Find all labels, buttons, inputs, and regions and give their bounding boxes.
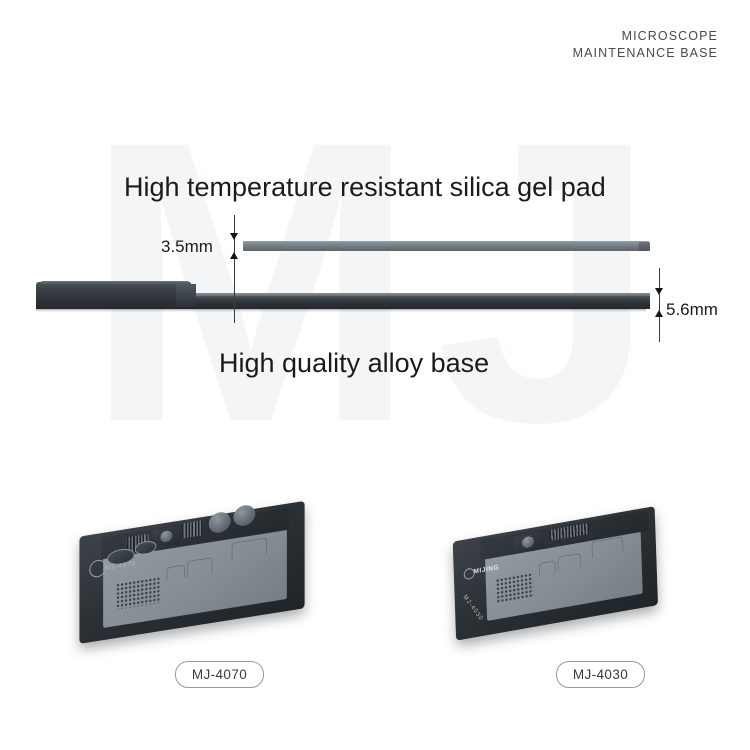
headline-alloy-base: High quality alloy base — [219, 348, 489, 379]
dimension-line-3-5mm — [234, 215, 235, 323]
alloy-base-shadow — [36, 308, 646, 312]
mj-watermark: MJ — [60, 92, 700, 472]
alloy-base-top-edge — [190, 293, 650, 298]
header-line-1: MICROSCOPE — [573, 28, 718, 45]
alloy-base-plate — [36, 296, 650, 309]
product-photo-mj-4030: MIJING MJ-4030 — [443, 508, 673, 648]
product-infographic-page: MJ MICROSCOPE MAINTENANCE BASE High temp… — [0, 0, 750, 750]
dimension-line-5-6mm — [659, 268, 660, 342]
mj-4070-screwdriver-comb-right — [182, 520, 202, 538]
alloy-base-rail-block — [36, 282, 191, 309]
header-line-2: MAINTENANCE BASE — [573, 45, 718, 62]
headline-silica-gel-pad: High temperature resistant silica gel pa… — [124, 172, 606, 203]
header-title-block: MICROSCOPE MAINTENANCE BASE — [573, 28, 718, 62]
silica-gel-pad — [243, 241, 649, 251]
badge-mj-4070: MJ-4070 — [175, 661, 264, 688]
dimension-arrow-5-6mm-top — [655, 288, 663, 295]
dimension-arrow-3-5mm-bottom — [230, 252, 238, 259]
dimension-label-3-5mm: 3.5mm — [161, 237, 213, 257]
badge-mj-4030: MJ-4030 — [556, 661, 645, 688]
dimension-label-5-6mm: 5.6mm — [666, 300, 718, 320]
silica-gel-pad-end-cap — [639, 242, 650, 251]
product-photo-mj-4070: MJ-4070 — [70, 505, 320, 650]
alloy-base-rail-step — [176, 284, 196, 307]
dimension-arrow-5-6mm-bottom — [655, 310, 663, 317]
dimension-arrow-3-5mm-top — [230, 233, 238, 240]
alloy-base-rail-top — [40, 281, 190, 285]
